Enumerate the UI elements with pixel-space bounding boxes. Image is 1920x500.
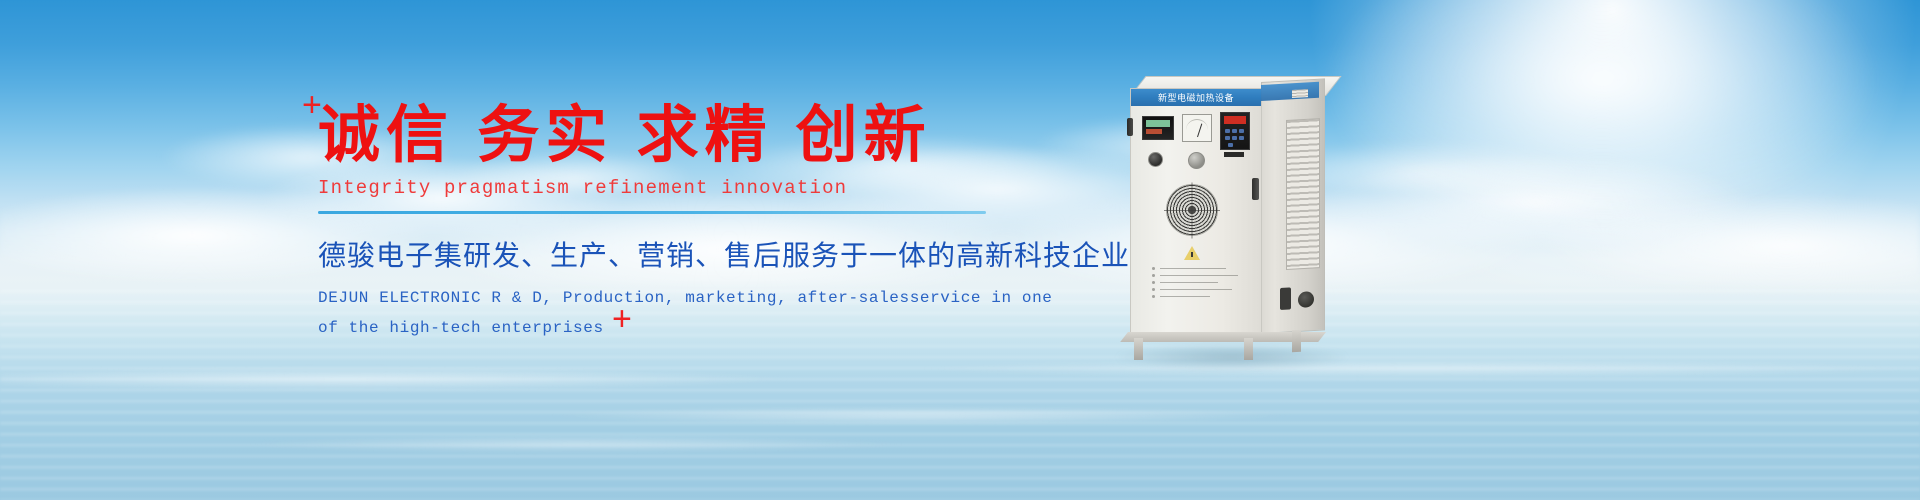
product-image-heating-equipment: 新型电磁加热设备 — [1120, 60, 1340, 360]
selector-knob-icon — [1148, 152, 1163, 167]
water-highlights — [0, 340, 1920, 470]
headline-slogan: 诚信 务实 求精 创新 — [318, 100, 1018, 171]
machine-label-text: 新型电磁加热设备 — [1158, 91, 1234, 104]
display-segment-red — [1146, 129, 1162, 134]
analog-gauge-icon — [1182, 114, 1212, 142]
keypad-button — [1239, 136, 1244, 140]
keypad-button — [1228, 143, 1233, 147]
keypad-button — [1232, 129, 1237, 133]
keypad-button — [1225, 136, 1230, 140]
company-description-english-line1: DEJUN ELECTRONIC R & D, Production, mark… — [318, 284, 1018, 314]
keypad-button — [1225, 129, 1230, 133]
product-shadow — [1116, 344, 1348, 370]
machine-label-banner: 新型电磁加热设备 — [1131, 89, 1261, 106]
machine-label-side — [1261, 82, 1319, 101]
door-handle — [1252, 178, 1259, 200]
indicator-lamp-bar — [1224, 152, 1244, 157]
ventilation-louvers — [1286, 118, 1320, 270]
machine-leg — [1244, 338, 1253, 360]
side-port-rectangular — [1280, 287, 1291, 310]
divider-rule — [318, 211, 986, 214]
machine-leg — [1134, 338, 1143, 360]
latch-handle-upper — [1127, 118, 1133, 136]
led-display — [1224, 116, 1246, 124]
fan-spokes — [1166, 184, 1218, 236]
spec-label-plate — [1150, 266, 1242, 306]
keypad-module — [1220, 112, 1250, 150]
keypad-button — [1232, 136, 1237, 140]
company-description-english-line2: of the high-tech enterprises — [318, 314, 1018, 344]
headline-slogan-english: Integrity pragmatism refinement innovati… — [318, 177, 1018, 199]
keypad-button — [1239, 129, 1244, 133]
digital-controller-display — [1142, 116, 1174, 140]
rotary-knob-icon — [1188, 152, 1205, 169]
company-description-chinese: 德骏电子集研发、生产、营销、售后服务于一体的高新科技企业 — [318, 234, 1018, 274]
gauge-arc — [1186, 119, 1208, 130]
display-segment-green — [1146, 120, 1170, 127]
vent-small — [1292, 89, 1308, 98]
warning-triangle-icon — [1184, 246, 1200, 260]
banner-text-block: 诚信 务实 求精 创新 Integrity pragmatism refinem… — [318, 100, 1018, 343]
promo-banner: + + 诚信 务实 求精 创新 Integrity pragmatism ref… — [0, 0, 1920, 500]
sun-glow — [1322, 0, 1882, 230]
machine-leg — [1292, 330, 1301, 353]
